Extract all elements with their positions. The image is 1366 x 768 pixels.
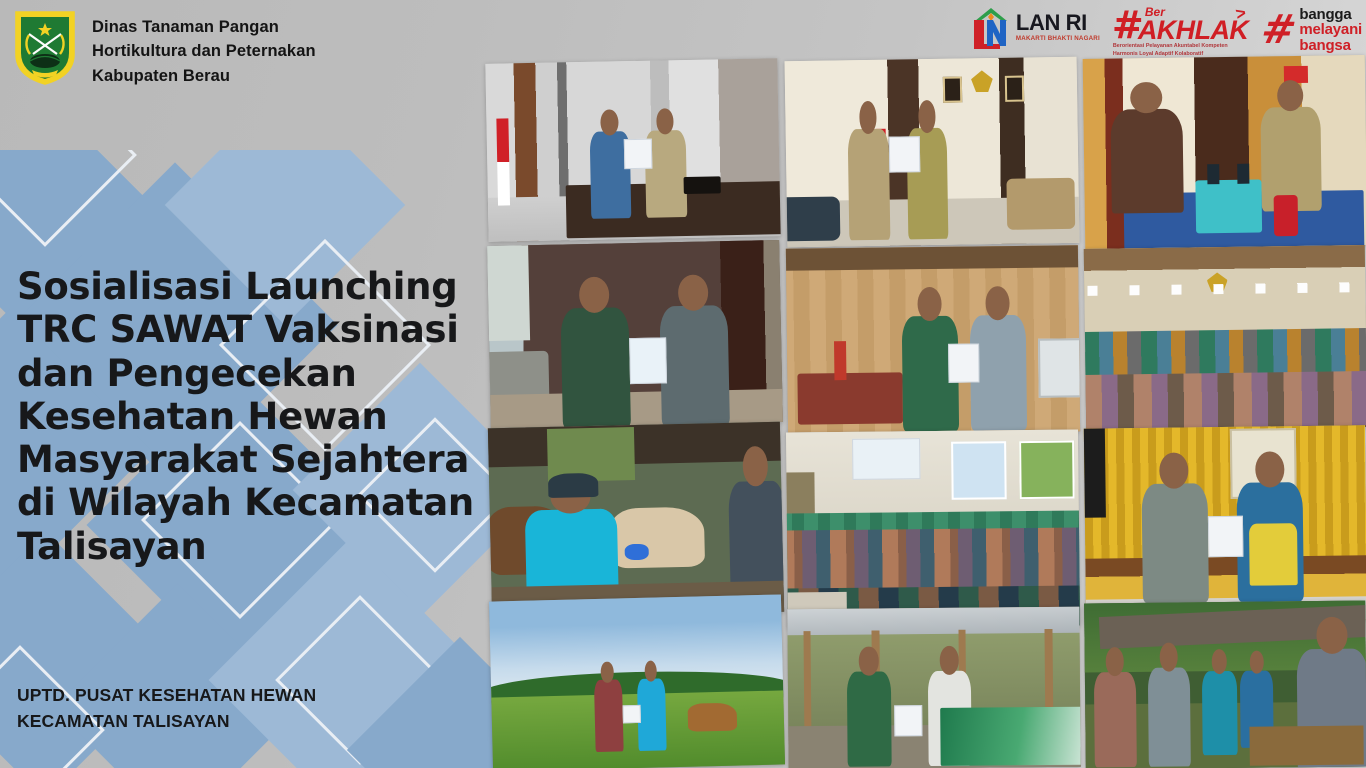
poster-footer: UPTD. PUSAT KESEHATAN HEWAN KECAMATAN TA… <box>17 683 477 734</box>
akhlak-tagline-line-2: Harmonis Loyal Adaptif Kolaboratif <box>1113 50 1249 58</box>
org-line-3: Kabupaten Berau <box>92 64 316 88</box>
photo-r2c1 <box>487 240 783 428</box>
photo-r4c1 <box>489 594 785 768</box>
lan-ri-mark-icon <box>969 5 1013 49</box>
org-line-1: Dinas Tanaman Pangan <box>92 15 316 39</box>
photo-r3c2 <box>786 429 1080 628</box>
photo-gallery-grid <box>487 57 1366 768</box>
photo-r2c3 <box>1084 245 1366 431</box>
poster-header: Dinas Tanaman Pangan Hortikultura dan Pe… <box>0 0 1366 96</box>
akhlak-tagline: Berorientasi Pelayanan Akuntabel Kompete… <box>1113 42 1249 58</box>
partner-logo-strip: LAN RI MAKARTI BHAKTI NAGARI # Ber AKHLA… <box>969 4 1362 60</box>
bangga-hash-icon: # <box>1258 10 1300 50</box>
photo-r3c1 <box>488 422 784 619</box>
photo-r4c2 <box>787 607 1080 768</box>
lan-ri-wordmark: LAN RI <box>1016 12 1100 34</box>
berau-regency-crest-icon <box>12 8 78 86</box>
ber-akhlak-logo: # Ber AKHLAK > Berorientasi Pelayanan Ak… <box>1112 4 1250 58</box>
akhlak-tagline-line-1: Berorientasi Pelayanan Akuntabel Kompete… <box>1113 42 1249 50</box>
org-line-2: Hortikultura dan Peternakan <box>92 39 316 63</box>
footer-line-2: KECAMATAN TALISAYAN <box>17 709 477 735</box>
photo-r4c3 <box>1084 601 1366 768</box>
bangga-line-1: bangga <box>1299 7 1362 22</box>
photo-r2c2 <box>786 245 1080 435</box>
bangga-line-2: melayani <box>1299 22 1362 37</box>
footer-line-1: UPTD. PUSAT KESEHATAN HEWAN <box>17 683 477 709</box>
photo-r3c3 <box>1084 425 1366 622</box>
lan-ri-tagline: MAKARTI BHAKTI NAGARI <box>1016 36 1100 42</box>
bangga-melayani-bangsa-logo: # bangga melayani bangsa <box>1262 4 1362 56</box>
lan-ri-logo: LAN RI MAKARTI BHAKTI NAGARI <box>969 4 1100 50</box>
poster-canvas: Dinas Tanaman Pangan Hortikultura dan Pe… <box>0 0 1366 768</box>
organization-identity: Dinas Tanaman Pangan Hortikultura dan Pe… <box>12 8 316 88</box>
bangga-line-3: bangsa <box>1299 38 1362 53</box>
poster-title: Sosialisasi Launching TRC SAWAT Vaksinas… <box>17 265 487 568</box>
organization-name-lines: Dinas Tanaman Pangan Hortikultura dan Pe… <box>92 8 316 88</box>
